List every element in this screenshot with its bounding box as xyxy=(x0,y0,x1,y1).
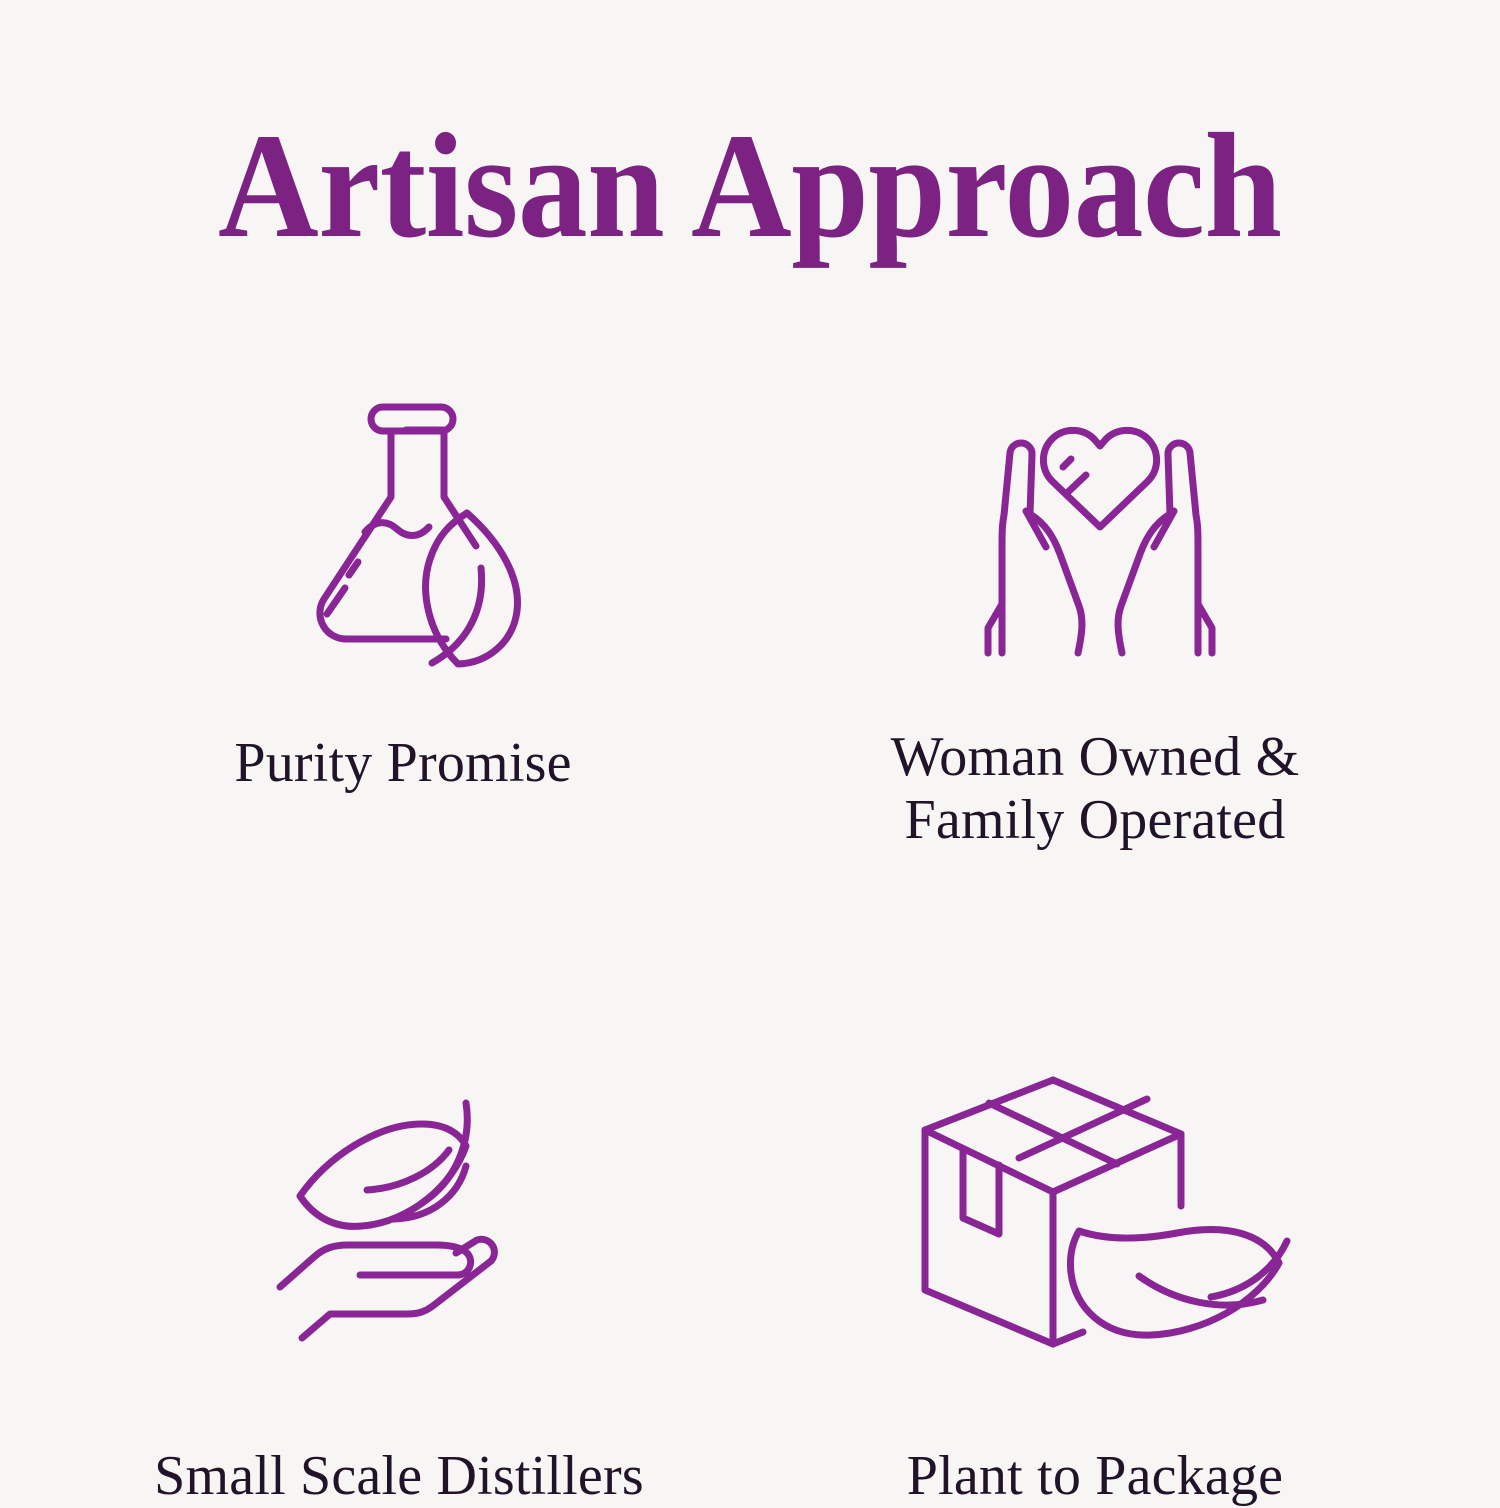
leaf-in-open-hand-icon xyxy=(50,1061,740,1361)
feature-label-plant-to-package: Plant to Package xyxy=(907,1445,1283,1508)
hands-holding-heart-icon xyxy=(755,384,1445,684)
page-title: Artisan Approach xyxy=(218,108,1282,264)
feature-item-woman-owned: Woman Owned & Family Operated xyxy=(750,352,1440,823)
feature-grid: Purity Promise xyxy=(60,352,1440,1432)
feature-label-small-scale-distillers: Small Scale Distillers xyxy=(154,1445,644,1508)
flask-with-leaf-icon xyxy=(85,380,775,680)
page-title-container: Artisan Approach xyxy=(0,108,1500,264)
artisan-approach-panel: Artisan Approach xyxy=(0,0,1500,1500)
feature-label-purity-promise: Purity Promise xyxy=(234,732,571,795)
feature-item-purity-promise: Purity Promise xyxy=(60,352,750,823)
feature-item-plant-to-package: Plant to Package xyxy=(750,823,1440,1468)
package-box-with-leaf-icon xyxy=(768,1063,1458,1363)
feature-item-small-scale-distillers: Small Scale Distillers xyxy=(60,823,750,1468)
